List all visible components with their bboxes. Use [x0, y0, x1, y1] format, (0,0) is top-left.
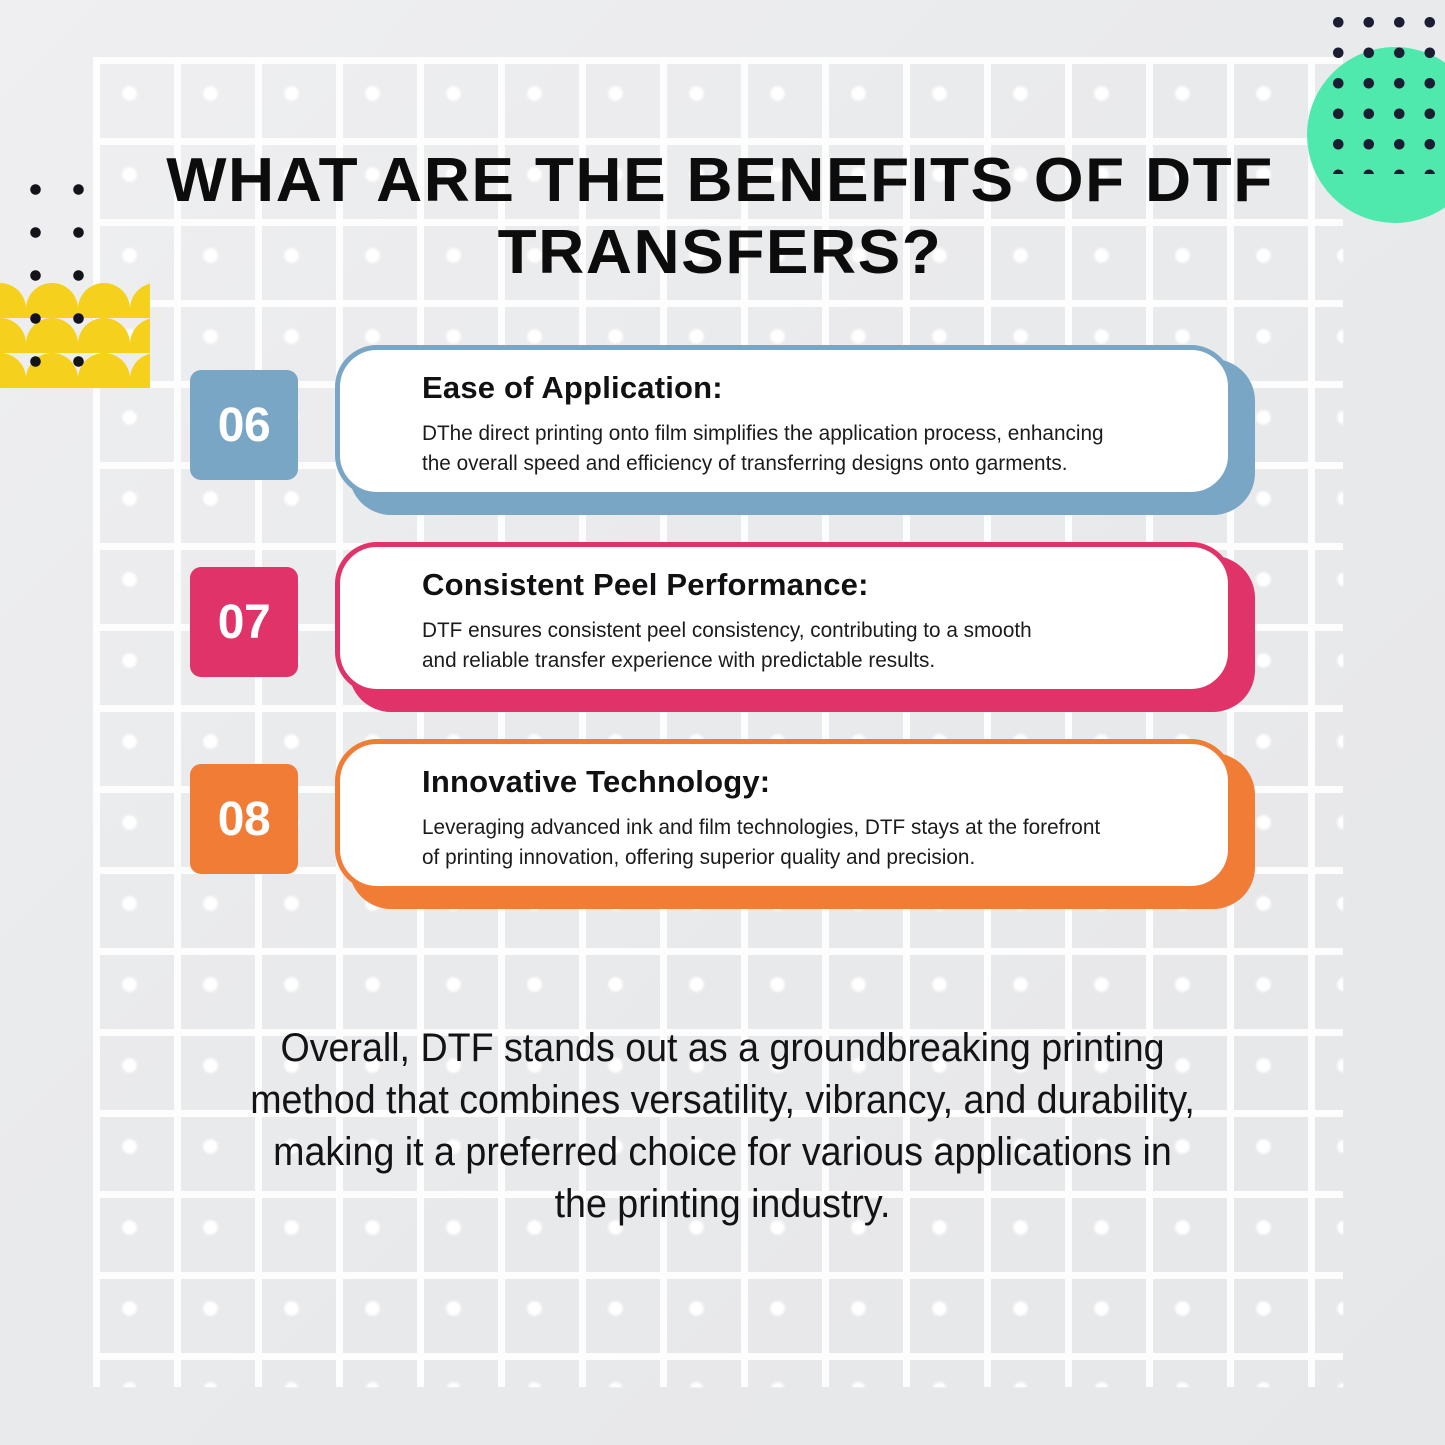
card-body: Innovative Technology: Leveraging advanc… — [335, 739, 1233, 891]
card-number-badge-06: 06 — [190, 370, 298, 480]
card-body: Consistent Peel Performance: DTF ensures… — [335, 542, 1233, 694]
card-heading: Innovative Technology: — [422, 764, 1194, 800]
card-shell: Innovative Technology: Leveraging advanc… — [335, 739, 1255, 909]
card-shell: Ease of Application: DThe direct printin… — [335, 345, 1255, 515]
page-title: WHAT ARE THE BENEFITS OF DTF TRANSFERS? — [159, 145, 1282, 289]
infographic-poster: WHAT ARE THE BENEFITS OF DTF TRANSFERS? … — [0, 0, 1445, 1445]
card-number-badge-08: 08 — [190, 764, 298, 874]
semicircle-shape — [130, 283, 150, 318]
dot-grid-left-decoration — [14, 168, 114, 373]
benefit-card-06: 06 Ease of Application: DThe direct prin… — [0, 345, 1445, 542]
benefit-card-list: 06 Ease of Application: DThe direct prin… — [0, 345, 1445, 936]
card-number-badge-07: 07 — [190, 567, 298, 677]
card-number-label: 06 — [218, 398, 270, 453]
card-heading: Consistent Peel Performance: — [422, 567, 1194, 603]
card-number-label: 08 — [218, 792, 270, 847]
benefit-card-08: 08 Innovative Technology: Leveraging adv… — [0, 739, 1445, 936]
summary-paragraph: Overall, DTF stands out as a groundbreak… — [213, 1022, 1233, 1230]
card-description: Leveraging advanced ink and film technol… — [422, 812, 1167, 872]
benefit-card-07: 07 Consistent Peel Performance: DTF ensu… — [0, 542, 1445, 739]
card-body: Ease of Application: DThe direct printin… — [335, 345, 1233, 497]
card-description: DThe direct printing onto film simplifie… — [422, 418, 1167, 478]
dot-grid-top-right-decoration — [1320, 4, 1445, 174]
card-description: DTF ensures consistent peel consistency,… — [422, 615, 1167, 675]
card-shell: Consistent Peel Performance: DTF ensures… — [335, 542, 1255, 712]
card-heading: Ease of Application: — [422, 370, 1194, 406]
card-number-label: 07 — [218, 595, 270, 650]
